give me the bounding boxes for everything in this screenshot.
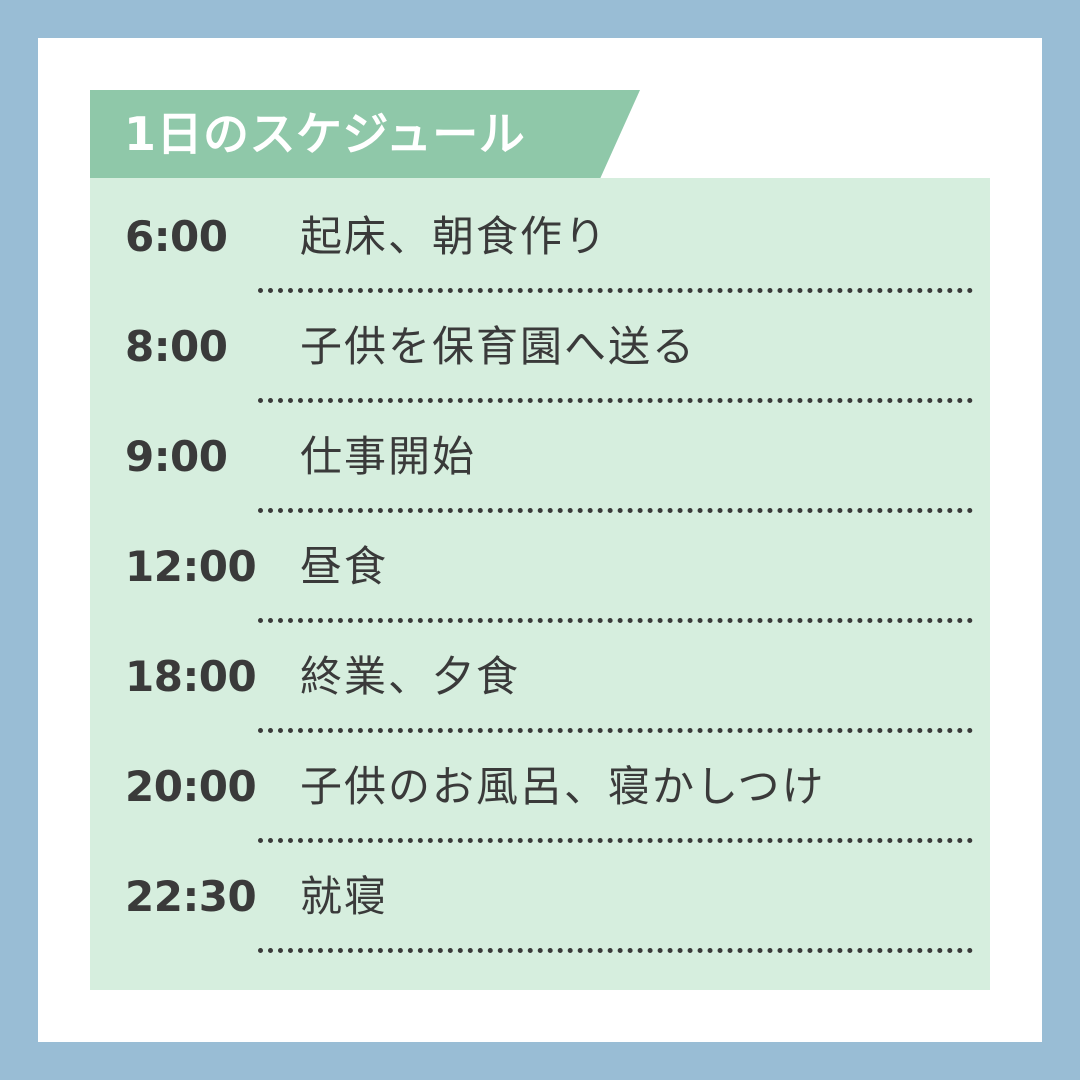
header-banner: 1日のスケジュール [90,90,640,178]
schedule-row: 6:00 起床、朝食作り [125,204,955,314]
row-time: 9:00 [125,424,300,490]
row-description: 終業、夕食 [300,644,955,710]
row-description: 子供を保育園へ送る [300,314,955,380]
row-dotted-divider [258,618,973,623]
schedule-panel: 6:00 起床、朝食作り 8:00 子供を保育園へ送る 9:00 仕事開始 12… [90,178,990,990]
row-dotted-divider [258,838,973,843]
row-dotted-divider [258,398,973,403]
infographic-card: 1日のスケジュール 6:00 起床、朝食作り 8:00 子供を保育園へ送る 9:… [38,38,1042,1042]
row-time: 20:00 [125,754,300,820]
schedule-row: 20:00 子供のお風呂、寝かしつけ [125,754,955,864]
row-time: 22:30 [125,864,300,930]
row-time: 18:00 [125,644,300,710]
schedule-row: 8:00 子供を保育園へ送る [125,314,955,424]
row-description: 起床、朝食作り [300,204,955,270]
row-dotted-divider [258,948,973,953]
row-description: 昼食 [300,534,955,600]
row-description: 子供のお風呂、寝かしつけ [300,754,955,820]
row-time: 8:00 [125,314,300,380]
schedule-row: 18:00 終業、夕食 [125,644,955,754]
schedule-row: 22:30 就寝 [125,864,955,974]
row-time: 12:00 [125,534,300,600]
row-dotted-divider [258,288,973,293]
schedule-row: 12:00 昼食 [125,534,955,644]
page-title: 1日のスケジュール [124,111,525,157]
row-description: 仕事開始 [300,424,955,490]
row-dotted-divider [258,728,973,733]
row-dotted-divider [258,508,973,513]
schedule-row: 9:00 仕事開始 [125,424,955,534]
row-time: 6:00 [125,204,300,270]
row-description: 就寝 [300,864,955,930]
